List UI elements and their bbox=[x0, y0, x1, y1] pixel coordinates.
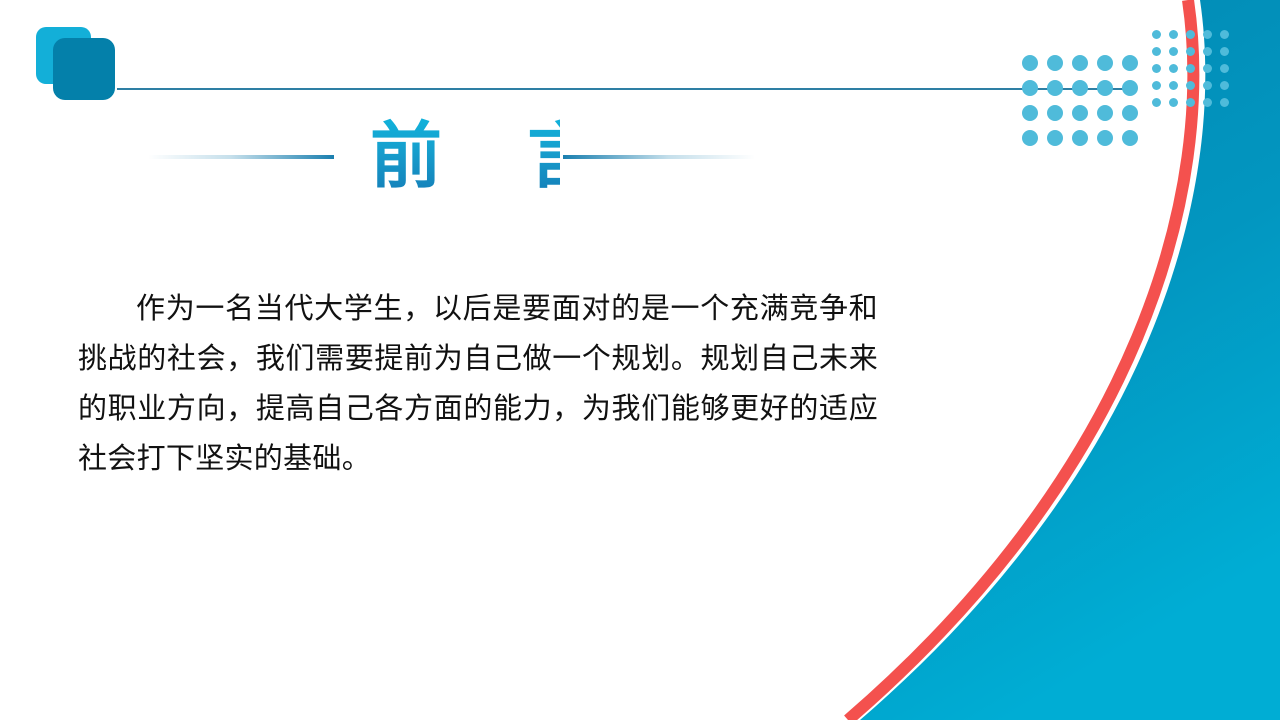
dot bbox=[1152, 64, 1161, 73]
dot bbox=[1169, 98, 1178, 107]
title-rule-left bbox=[148, 155, 334, 159]
dot bbox=[1186, 30, 1195, 39]
dot bbox=[1220, 98, 1229, 107]
title-rule-right bbox=[563, 155, 755, 159]
dot bbox=[1022, 105, 1038, 121]
dot bbox=[1022, 80, 1038, 96]
dot bbox=[1169, 81, 1178, 90]
dot bbox=[1186, 64, 1195, 73]
dot bbox=[1186, 98, 1195, 107]
dot bbox=[1072, 55, 1088, 71]
dot bbox=[1122, 55, 1138, 71]
dot bbox=[1203, 30, 1212, 39]
dot bbox=[1203, 81, 1212, 90]
dot-grid-large bbox=[1022, 55, 1147, 155]
dot bbox=[1220, 30, 1229, 39]
dot bbox=[1097, 55, 1113, 71]
dot bbox=[1072, 80, 1088, 96]
dot bbox=[1122, 80, 1138, 96]
dot bbox=[1152, 98, 1161, 107]
dot bbox=[1122, 130, 1138, 146]
logo-square-front bbox=[53, 38, 115, 100]
dot bbox=[1220, 47, 1229, 56]
dot bbox=[1203, 98, 1212, 107]
dot bbox=[1122, 105, 1138, 121]
dot bbox=[1022, 130, 1038, 146]
dot bbox=[1152, 81, 1161, 90]
dot bbox=[1097, 105, 1113, 121]
dot bbox=[1203, 47, 1212, 56]
slide-root: 前 言 作为一名当代大学生，以后是要面对的是一个充满竞争和挑战的社会，我们需要提… bbox=[0, 0, 1280, 720]
dot bbox=[1047, 55, 1063, 71]
dot bbox=[1022, 55, 1038, 71]
dot bbox=[1203, 64, 1212, 73]
dot bbox=[1220, 81, 1229, 90]
dot bbox=[1097, 80, 1113, 96]
dot-grid-small-clip bbox=[1140, 0, 1280, 180]
dot bbox=[1047, 105, 1063, 121]
dot bbox=[1047, 80, 1063, 96]
header-rule bbox=[117, 88, 1137, 90]
dot bbox=[1220, 64, 1229, 73]
dot bbox=[1186, 81, 1195, 90]
title-block: 前 言 bbox=[0, 108, 900, 208]
page-title: 前 言 bbox=[340, 108, 560, 204]
body-paragraph: 作为一名当代大学生，以后是要面对的是一个充满竞争和挑战的社会，我们需要提前为自己… bbox=[78, 283, 878, 483]
dot bbox=[1072, 105, 1088, 121]
dot-grid-small bbox=[1152, 30, 1237, 115]
logo-mark bbox=[36, 27, 116, 99]
dot bbox=[1097, 130, 1113, 146]
dot bbox=[1186, 47, 1195, 56]
dot bbox=[1047, 130, 1063, 146]
dot bbox=[1152, 30, 1161, 39]
dot bbox=[1152, 47, 1161, 56]
dot bbox=[1072, 130, 1088, 146]
dot bbox=[1169, 64, 1178, 73]
dot bbox=[1169, 30, 1178, 39]
dot bbox=[1169, 47, 1178, 56]
